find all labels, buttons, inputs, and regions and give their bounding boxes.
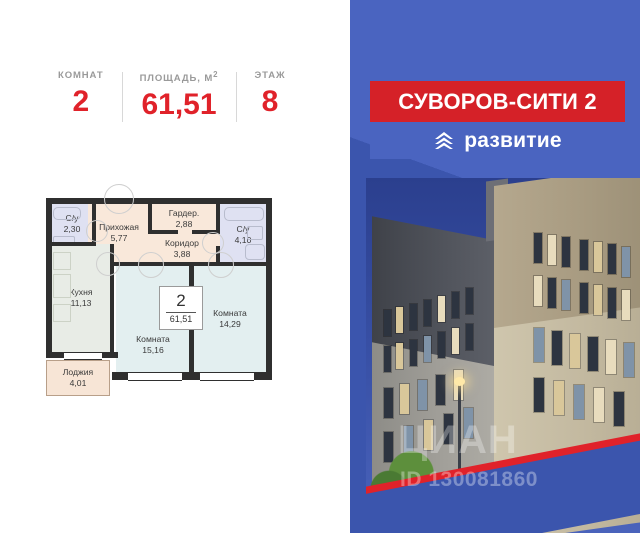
room-area: 2,88 — [176, 219, 193, 230]
developer-name: развитие — [464, 129, 562, 153]
stat-rooms: КОМНАТ 2 — [40, 70, 122, 117]
wall-right — [266, 198, 272, 378]
room-area: 5,77 — [111, 233, 128, 244]
stat-floor: ЭТАЖ 8 — [236, 70, 303, 117]
window-opening-kitchen — [64, 352, 102, 360]
counter-fixture — [53, 274, 71, 298]
stat-floor-value: 8 — [254, 87, 285, 117]
room-area: 2,30 — [64, 224, 81, 235]
stat-area-label: ПЛОЩАДЬ, М2 — [140, 70, 219, 84]
room-bedroom-2: Комната 14,29 — [194, 264, 266, 374]
project-name: СУВОРОВ-СИТИ 2 — [398, 89, 597, 115]
wall-partition-bath-large — [216, 204, 220, 234]
wall-left — [46, 198, 52, 358]
room-area: 15,16 — [142, 345, 164, 356]
window-opening-bedroom-2 — [200, 372, 254, 381]
door-sweep-entry — [104, 184, 134, 214]
room-name: Комната — [136, 334, 170, 345]
room-area: 4,01 — [70, 378, 87, 389]
badge-area: 61,51 — [170, 315, 193, 324]
floor-plan: С/у 2,30 Прихожая 5,77 Гардер. 2,88 Кори… — [42, 196, 306, 406]
wall-partition-wardrobe-bottom — [148, 230, 178, 234]
room-area: 11,13 — [71, 298, 92, 309]
window-opening-bedroom-1 — [128, 372, 182, 381]
stat-area-value: 61,51 — [140, 90, 219, 120]
room-name: Комната — [213, 308, 247, 319]
door-sweep-bath-small — [86, 220, 108, 242]
kitchen-sink-fixture — [53, 304, 71, 322]
listing-card: СУВОРОВ-СИТИ 2 развитие КОМНАТ 2 ПЛОЩАДЬ… — [0, 0, 640, 533]
wall-partition-kitchen-top — [52, 242, 96, 246]
door-sweep-bedroom-1 — [138, 252, 164, 278]
room-name: Коридор — [165, 238, 199, 249]
apartment-badge: 2 61,51 — [159, 286, 203, 330]
room-loggia: Лоджия 4,01 — [46, 360, 110, 396]
project-logo-block: СУВОРОВ-СИТИ 2 развитие — [370, 81, 625, 159]
stat-area: ПЛОЩАДЬ, М2 61,51 — [122, 70, 237, 120]
promo-panel — [350, 0, 640, 533]
room-name: Гардер. — [169, 208, 200, 219]
stat-rooms-label: КОМНАТ — [58, 70, 104, 81]
badge-divider — [166, 312, 196, 313]
apartment-stats: КОМНАТ 2 ПЛОЩАДЬ, М2 61,51 ЭТАЖ 8 — [40, 70, 303, 120]
room-area: 3,88 — [174, 249, 191, 260]
door-sweep-bedroom-2 — [208, 252, 234, 278]
room-name: Лоджия — [63, 367, 93, 378]
sink-fixture-large — [245, 244, 265, 260]
door-sweep-kitchen — [96, 252, 120, 276]
chevrons-up-icon — [433, 131, 455, 151]
developer-banner: развитие — [370, 122, 625, 159]
badge-room-count: 2 — [176, 292, 185, 311]
stove-fixture — [53, 252, 71, 270]
stat-rooms-value: 2 — [58, 87, 104, 117]
room-area: 14,29 — [219, 319, 241, 330]
bathtub-fixture-large — [224, 207, 264, 221]
bathtub-fixture — [53, 207, 81, 220]
wall-top — [46, 198, 272, 204]
stat-floor-label: ЭТАЖ — [254, 70, 285, 81]
project-name-banner: СУВОРОВ-СИТИ 2 — [370, 81, 625, 122]
toilet-fixture — [247, 226, 263, 240]
building-render-photo — [366, 178, 640, 533]
door-sweep-bath-large — [202, 232, 224, 254]
room-name: Кухня — [70, 287, 93, 298]
street-lamp — [458, 383, 461, 469]
